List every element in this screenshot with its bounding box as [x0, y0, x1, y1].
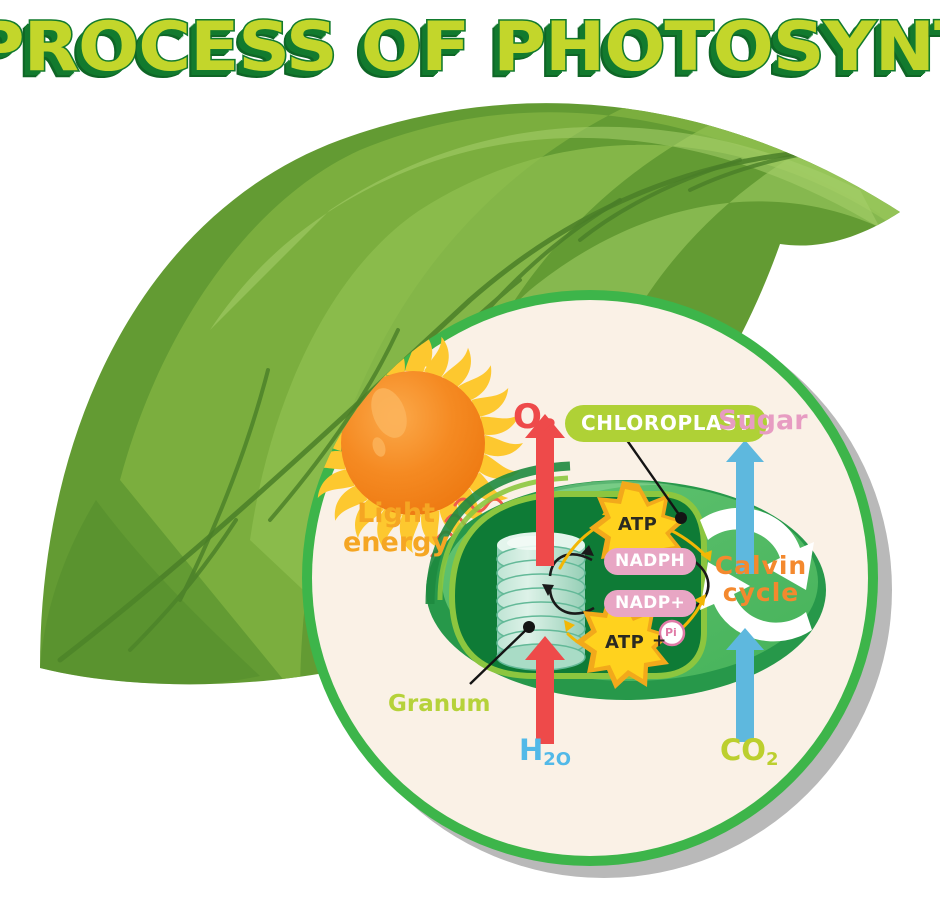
pi-label: Pi: [665, 626, 677, 639]
nadp-plus-label: NADP+: [615, 593, 685, 613]
o2-label: O2: [513, 400, 557, 438]
nadph-pill: NADPH: [604, 548, 696, 575]
h2o-label-subscript: 2O: [543, 749, 571, 770]
light-energy-label: Light energy: [343, 499, 449, 557]
co2-label-subscript: 2: [766, 749, 779, 770]
light-energy-line1: Light: [357, 498, 435, 529]
nadp-plus-pill: NADP+: [604, 590, 696, 617]
o2-label-subscript: 2: [542, 414, 557, 439]
calvin-cycle-line1: Calvin: [715, 551, 807, 580]
diagram-canvas: [0, 0, 940, 900]
o2-label-text: O: [513, 397, 542, 437]
sugar-label: Sugar: [718, 407, 808, 435]
nadph-label: NADPH: [615, 551, 685, 571]
photosynthesis-infographic: PROCESS OF PHOTOSYNTHESIS: [0, 0, 940, 900]
calvin-cycle-line2: cycle: [723, 578, 799, 607]
co2-label-text: CO: [720, 733, 766, 767]
atp-bottom-label: ATP: [605, 632, 644, 653]
atp-top-label: ATP: [618, 514, 657, 535]
light-energy-line2: energy: [343, 527, 449, 558]
h2o-label: H2O: [519, 735, 571, 770]
h2o-label-text: H: [519, 733, 543, 767]
calvin-cycle-label: Calvin cycle: [707, 552, 815, 606]
granum-label: Granum: [388, 692, 490, 716]
co2-label: CO2: [720, 735, 778, 770]
